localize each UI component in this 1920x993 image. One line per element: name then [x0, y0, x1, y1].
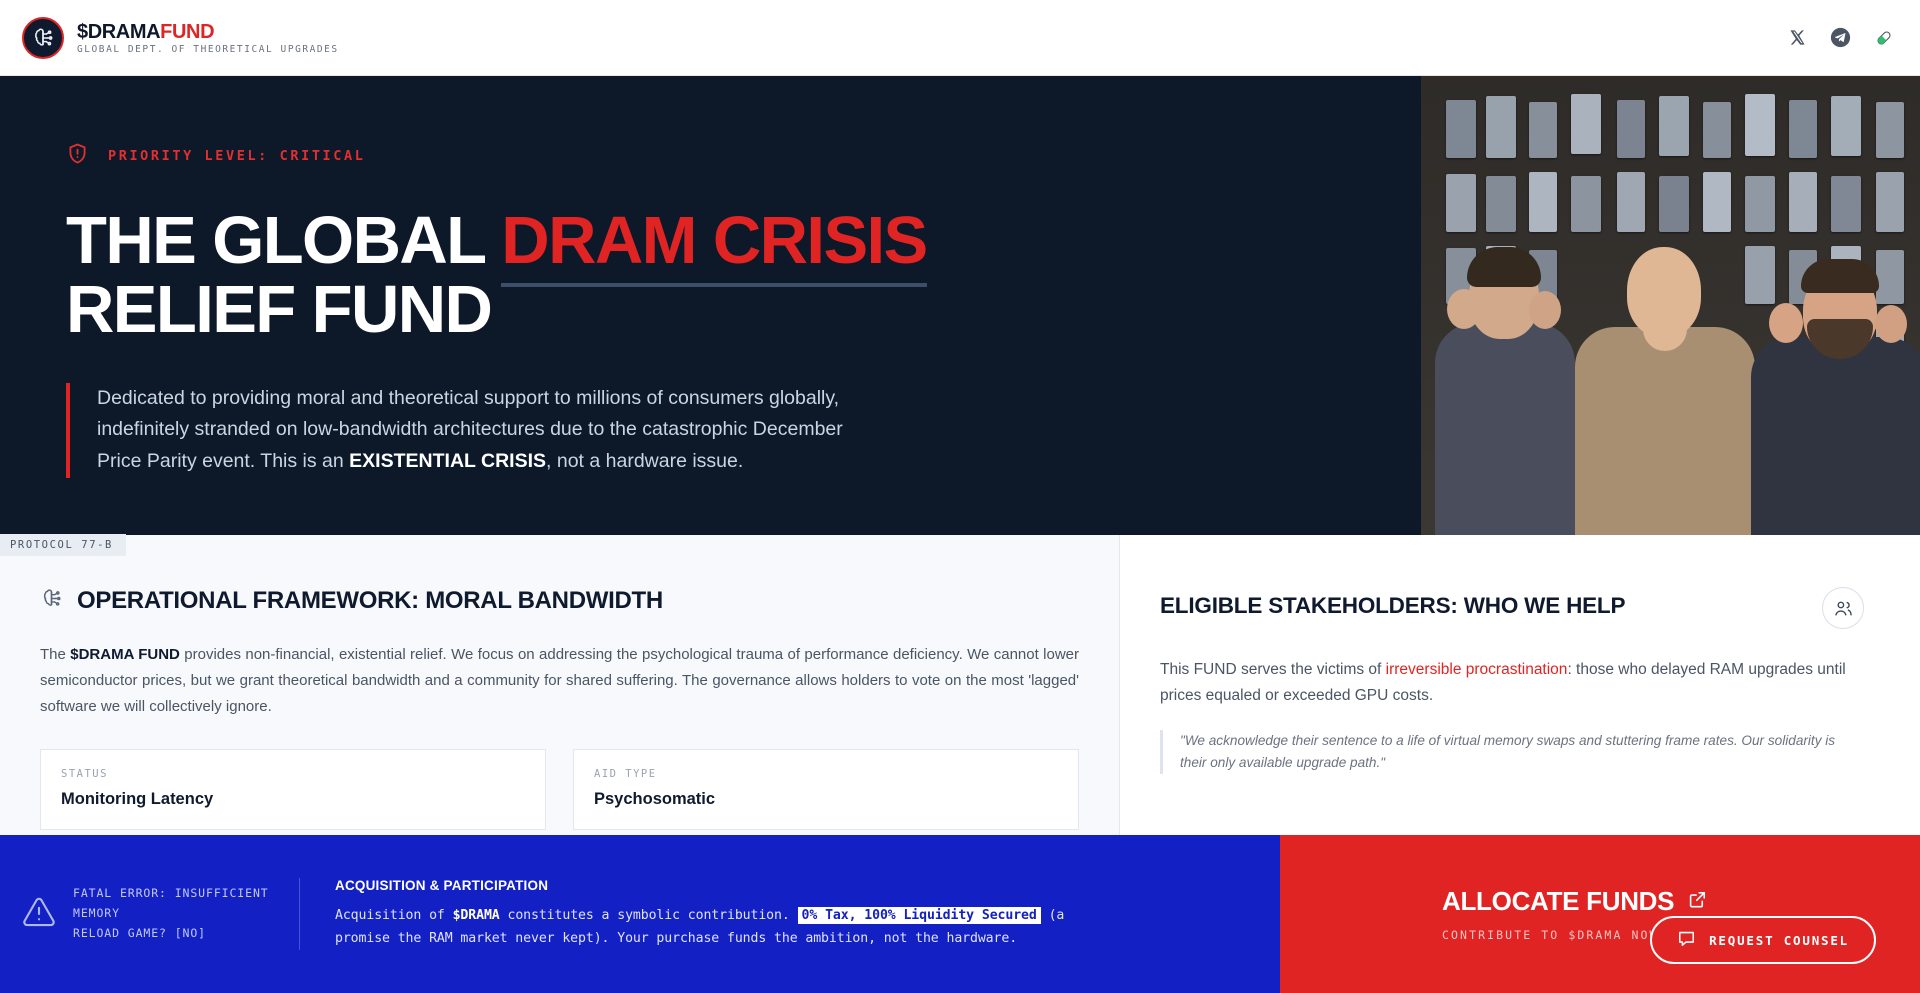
framework-cards: STATUS Monitoring Latency AID TYPE Psych… [40, 749, 1079, 830]
framework-title: OPERATIONAL FRAMEWORK: MORAL BANDWIDTH [77, 587, 663, 615]
stakeholders-quote: "We acknowledge their sentence to a life… [1160, 730, 1864, 774]
figure-right-hand-2 [1875, 305, 1907, 343]
protocol-badge: PROTOCOL 77-B [0, 534, 126, 556]
figure-left-hand-2 [1529, 291, 1561, 329]
allocate-funds-row: ALLOCATE FUNDS [1442, 886, 1920, 917]
hero-section: PRIORITY LEVEL: CRITICAL THE GLOBAL DRAM… [0, 76, 1920, 535]
hero-title-plain: THE GLOBAL [66, 203, 501, 278]
hero-paragraph-part2: , not a hardware issue. [546, 450, 743, 472]
acquisition-body-token: $DRAMA [453, 908, 500, 923]
acquisition-tax-badge: 0% Tax, 100% Liquidity Secured [798, 907, 1041, 924]
stakeholders-body-highlight: irreversible procrastination [1386, 661, 1568, 678]
telegram-icon[interactable] [1830, 27, 1851, 48]
hero-title: THE GLOBAL DRAM CRISIS RELIEF FUND [66, 206, 1421, 345]
figure-left [1429, 205, 1579, 535]
framework-heading-row: OPERATIONAL FRAMEWORK: MORAL BANDWIDTH [40, 587, 1079, 615]
figure-right-hand [1769, 303, 1803, 343]
acquisition-content: ACQUISITION & PARTICIPATION Acquisition … [300, 878, 1125, 950]
fatal-error-notice: FATAL ERROR: INSUFFICIENT MEMORY RELOAD … [0, 878, 300, 950]
shield-alert-icon [66, 142, 89, 170]
framework-body-part1: The [40, 646, 70, 663]
fatal-error-line2: RELOAD GAME? [NO] [73, 924, 299, 944]
hero-content: PRIORITY LEVEL: CRITICAL THE GLOBAL DRAM… [0, 76, 1421, 535]
stakeholders-heading-row: ELIGIBLE STAKEHOLDERS: WHO WE HELP [1160, 593, 1864, 629]
stat-card-aid-type-value: Psychosomatic [594, 790, 1058, 809]
hero-title-line2: RELIEF FUND [66, 272, 491, 347]
brand-title: $DRAMAFUND [77, 22, 339, 42]
acquisition-body-part1: Acquisition of [335, 908, 453, 923]
external-link-icon [1688, 890, 1707, 914]
social-links [1787, 27, 1894, 48]
request-counsel-button[interactable]: REQUEST COUNSEL [1650, 916, 1876, 964]
brand-title-secondary: FUND [160, 21, 214, 43]
figure-left-hand [1447, 289, 1481, 329]
brand-title-primary: $DRAMA [77, 21, 160, 43]
stat-card-status-label: STATUS [61, 768, 525, 780]
figure-right-hair [1801, 259, 1879, 293]
stat-card-status: STATUS Monitoring Latency [40, 749, 546, 830]
stat-card-status-value: Monitoring Latency [61, 790, 525, 809]
figure-left-body [1435, 323, 1575, 535]
chat-bubble-icon [1677, 929, 1696, 951]
brain-icon [40, 587, 63, 615]
allocate-funds-title: ALLOCATE FUNDS [1442, 886, 1674, 917]
stakeholders-title: ELIGIBLE STAKEHOLDERS: WHO WE HELP [1160, 593, 1625, 619]
people-icon[interactable] [1822, 587, 1864, 629]
framework-body: The $DRAMA FUND provides non-financial, … [40, 642, 1079, 719]
fatal-error-text: FATAL ERROR: INSUFFICIENT MEMORY RELOAD … [73, 884, 299, 943]
figure-left-hair [1467, 247, 1541, 287]
framework-body-bold: $DRAMA FUND [70, 646, 180, 663]
brain-icon [22, 17, 64, 59]
stakeholders-body: This FUND serves the victims of irrevers… [1160, 657, 1864, 708]
brand-logo[interactable]: $DRAMAFUND GLOBAL DEPT. OF THEORETICAL U… [22, 17, 339, 59]
acquisition-body-part2: constitutes a symbolic contribution. [500, 908, 798, 923]
hero-title-accent: DRAM CRISIS [501, 203, 926, 287]
fatal-error-line1: FATAL ERROR: INSUFFICIENT MEMORY [73, 884, 299, 924]
site-header: $DRAMAFUND GLOBAL DEPT. OF THEORETICAL U… [0, 0, 1920, 76]
mid-section: PROTOCOL 77-B OPERATIONAL FRAMEWORK: MOR… [0, 535, 1920, 835]
figure-right-body [1751, 337, 1920, 535]
warning-triangle-icon [22, 895, 56, 934]
bottom-bar: FATAL ERROR: INSUFFICIENT MEMORY RELOAD … [0, 835, 1920, 993]
brand-subtitle: GLOBAL DEPT. OF THEORETICAL UPGRADES [77, 45, 339, 55]
acquisition-body: Acquisition of $DRAMA constitutes a symb… [335, 904, 1095, 950]
acquisition-panel: FATAL ERROR: INSUFFICIENT MEMORY RELOAD … [0, 835, 1280, 993]
framework-panel: PROTOCOL 77-B OPERATIONAL FRAMEWORK: MOR… [0, 535, 1120, 835]
stakeholders-panel: ELIGIBLE STAKEHOLDERS: WHO WE HELP This … [1120, 535, 1920, 835]
request-counsel-label: REQUEST COUNSEL [1709, 933, 1849, 948]
pill-capsule-icon[interactable] [1873, 27, 1894, 48]
figure-center [1569, 195, 1759, 535]
figure-right [1751, 215, 1920, 535]
allocate-funds-panel[interactable]: ALLOCATE FUNDS CONTRIBUTE TO $DRAMA NOW … [1280, 835, 1920, 993]
x-twitter-icon[interactable] [1787, 27, 1808, 48]
stakeholders-body-part1: This FUND serves the victims of [1160, 661, 1386, 678]
framework-body-part2: provides non-financial, existential reli… [40, 646, 1079, 715]
priority-badge: PRIORITY LEVEL: CRITICAL [66, 142, 1421, 170]
figure-center-body [1575, 327, 1755, 535]
stat-card-aid-type: AID TYPE Psychosomatic [573, 749, 1079, 830]
hero-paragraph-bold: EXISTENTIAL CRISIS [349, 450, 546, 472]
priority-label: PRIORITY LEVEL: CRITICAL [108, 148, 365, 164]
hero-paragraph: Dedicated to providing moral and theoret… [66, 383, 856, 478]
figure-center-hand [1643, 307, 1687, 351]
stat-card-aid-type-label: AID TYPE [594, 768, 1058, 780]
hero-image [1421, 76, 1920, 535]
acquisition-title: ACQUISITION & PARTICIPATION [335, 878, 1095, 893]
